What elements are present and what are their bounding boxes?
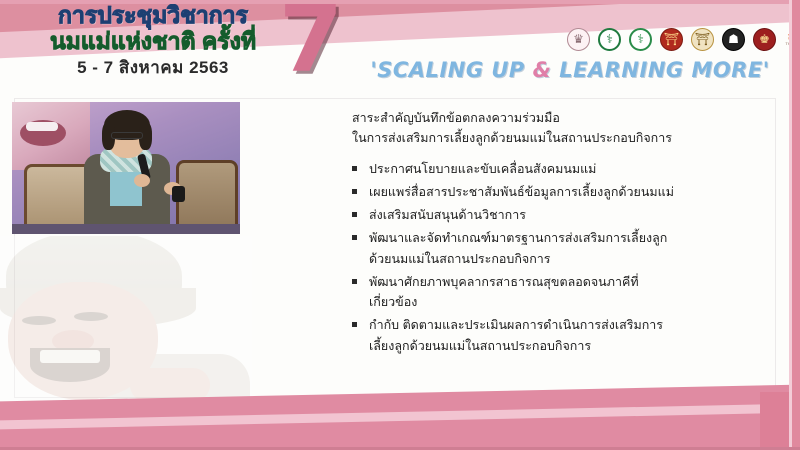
slide-body-text: สาระสำคัญบันทึกข้อตกลงความร่วมมือ ในการส… bbox=[352, 108, 752, 359]
list-item: พัฒนาศักยภาพบุคลากรสาธารณสุขตลอดจนภาคีที… bbox=[352, 272, 752, 313]
square-bullet-icon bbox=[352, 166, 357, 171]
bullet-text-line1: ส่งเสริมสนับสนุนด้านวิชาการ bbox=[369, 208, 526, 222]
square-bullet-icon bbox=[352, 212, 357, 217]
speaker-glasses-icon bbox=[111, 132, 143, 139]
royal-patronage-emblem-icon: ♛ bbox=[566, 27, 591, 52]
edition-number: 7 bbox=[279, 0, 341, 86]
baby-eye-left bbox=[22, 316, 56, 325]
slide-header-banner: 7 การประชุมวิชาการ นมแม่แห่งชาติ ครั้งที… bbox=[0, 0, 792, 96]
bullet-text-line1: พัฒนาและจัดทำเกณฑ์มาตรฐานการส่งเสริมการเ… bbox=[369, 231, 667, 245]
square-bullet-icon bbox=[352, 235, 357, 240]
logo-glyph: ⚕ bbox=[597, 27, 622, 52]
frame-right-edge bbox=[792, 0, 800, 450]
frame-top-edge bbox=[0, 0, 800, 4]
bullet-text-line1: เผยแพร่สื่อสารประชาสัมพันธ์ข้อมูลการเลี้… bbox=[369, 185, 674, 199]
chair-right bbox=[176, 160, 238, 232]
square-bullet-icon bbox=[352, 279, 357, 284]
conference-title-line1: การประชุมวิชาการ bbox=[18, 2, 288, 28]
university-crest-logo-icon: ♚ bbox=[752, 27, 777, 52]
thai-red-emblem-logo-icon: ⛩ bbox=[659, 27, 684, 52]
bullet-text-line2: เลี้ยงลูกด้วยนมแม่ในสถานประกอบกิจการ bbox=[369, 336, 752, 357]
stage-floor bbox=[12, 224, 240, 234]
square-bullet-icon bbox=[352, 322, 357, 327]
bullet-text-line2: ด้วยนมแม่ในสถานประกอบกิจการ bbox=[369, 249, 752, 270]
intro-line-1: สาระสำคัญบันทึกข้อตกลงความร่วมมือ bbox=[352, 108, 752, 128]
black-circular-emblem-logo-icon: ☗ bbox=[721, 27, 746, 52]
logo-glyph: ⛩ bbox=[659, 27, 684, 52]
sponsor-logo-row: ♛ ⚕ ⚕ ⛩ ⛩ ☗ ♚ bbox=[566, 24, 792, 54]
square-bullet-icon bbox=[352, 189, 357, 194]
royal-college-emblem-logo-icon: ⛩ bbox=[690, 27, 715, 52]
poster-teeth-shape bbox=[26, 122, 58, 131]
intro-line-2: ในการส่งเสริมการเลี้ยงลูกด้วยนมแม่ในสถาน… bbox=[352, 128, 752, 148]
speaker-video-thumbnail[interactable] bbox=[12, 102, 240, 234]
tagline-open-text: 'SCALING UP bbox=[370, 58, 532, 82]
baby-eye-right bbox=[74, 312, 108, 321]
bullet-text-line1: กำกับ ติดตามและประเมินผลการดำเนินการส่งเ… bbox=[369, 318, 663, 332]
tagline-close-text: LEARNING MORE' bbox=[551, 58, 769, 82]
logo-glyph: ⚕ bbox=[628, 27, 653, 52]
logo-glyph: ♛ bbox=[566, 27, 591, 52]
baby-teeth bbox=[40, 350, 100, 363]
bullet-text-line2: เกี่ยวข้อง bbox=[369, 292, 752, 313]
conference-title: การประชุมวิชาการ นมแม่แห่งชาติ ครั้งที่ … bbox=[18, 2, 288, 78]
baby-background-photo bbox=[0, 236, 252, 412]
bullet-text-line1: พัฒนาศักยภาพบุคลากรสาธารณสุขตลอดจนภาคีที… bbox=[369, 275, 639, 289]
list-item: พัฒนาและจัดทำเกณฑ์มาตรฐานการส่งเสริมการเ… bbox=[352, 228, 752, 269]
ministry-of-public-health-logo-icon: ⚕ bbox=[597, 27, 622, 52]
conference-date: 5 - 7 สิงหาคม 2563 bbox=[18, 58, 288, 78]
video-backdrop-poster bbox=[12, 102, 90, 170]
presenter-clicker-icon bbox=[172, 186, 185, 202]
logo-glyph: ☗ bbox=[721, 27, 746, 52]
presentation-slide: 7 การประชุมวิชาการ นมแม่แห่งชาติ ครั้งที… bbox=[0, 0, 800, 450]
bullet-text-line1: ประกาศนโยบายและขับเคลื่อนสังคมนมแม่ bbox=[369, 162, 596, 176]
list-item: ส่งเสริมสนับสนุนด้านวิชาการ bbox=[352, 205, 752, 226]
list-item: เผยแพร่สื่อสารประชาสัมพันธ์ข้อมูลการเลี้… bbox=[352, 182, 752, 203]
logo-glyph: ♚ bbox=[752, 27, 777, 52]
logo-glyph: ⛩ bbox=[690, 27, 715, 52]
bullet-list: ประกาศนโยบายและขับเคลื่อนสังคมนมแม่ เผยแ… bbox=[352, 159, 752, 356]
speaker-hand-left bbox=[134, 174, 150, 187]
list-item: ประกาศนโยบายและขับเคลื่อนสังคมนมแม่ bbox=[352, 159, 752, 180]
conference-tagline: 'SCALING UP & LEARNING MORE' bbox=[355, 58, 785, 82]
conference-title-line2: นมแม่แห่งชาติ ครั้งที่ bbox=[18, 28, 288, 55]
tagline-ampersand: & bbox=[533, 58, 552, 82]
list-item: กำกับ ติดตามและประเมินผลการดำเนินการส่งเ… bbox=[352, 315, 752, 356]
department-of-health-logo-icon: ⚕ bbox=[628, 27, 653, 52]
